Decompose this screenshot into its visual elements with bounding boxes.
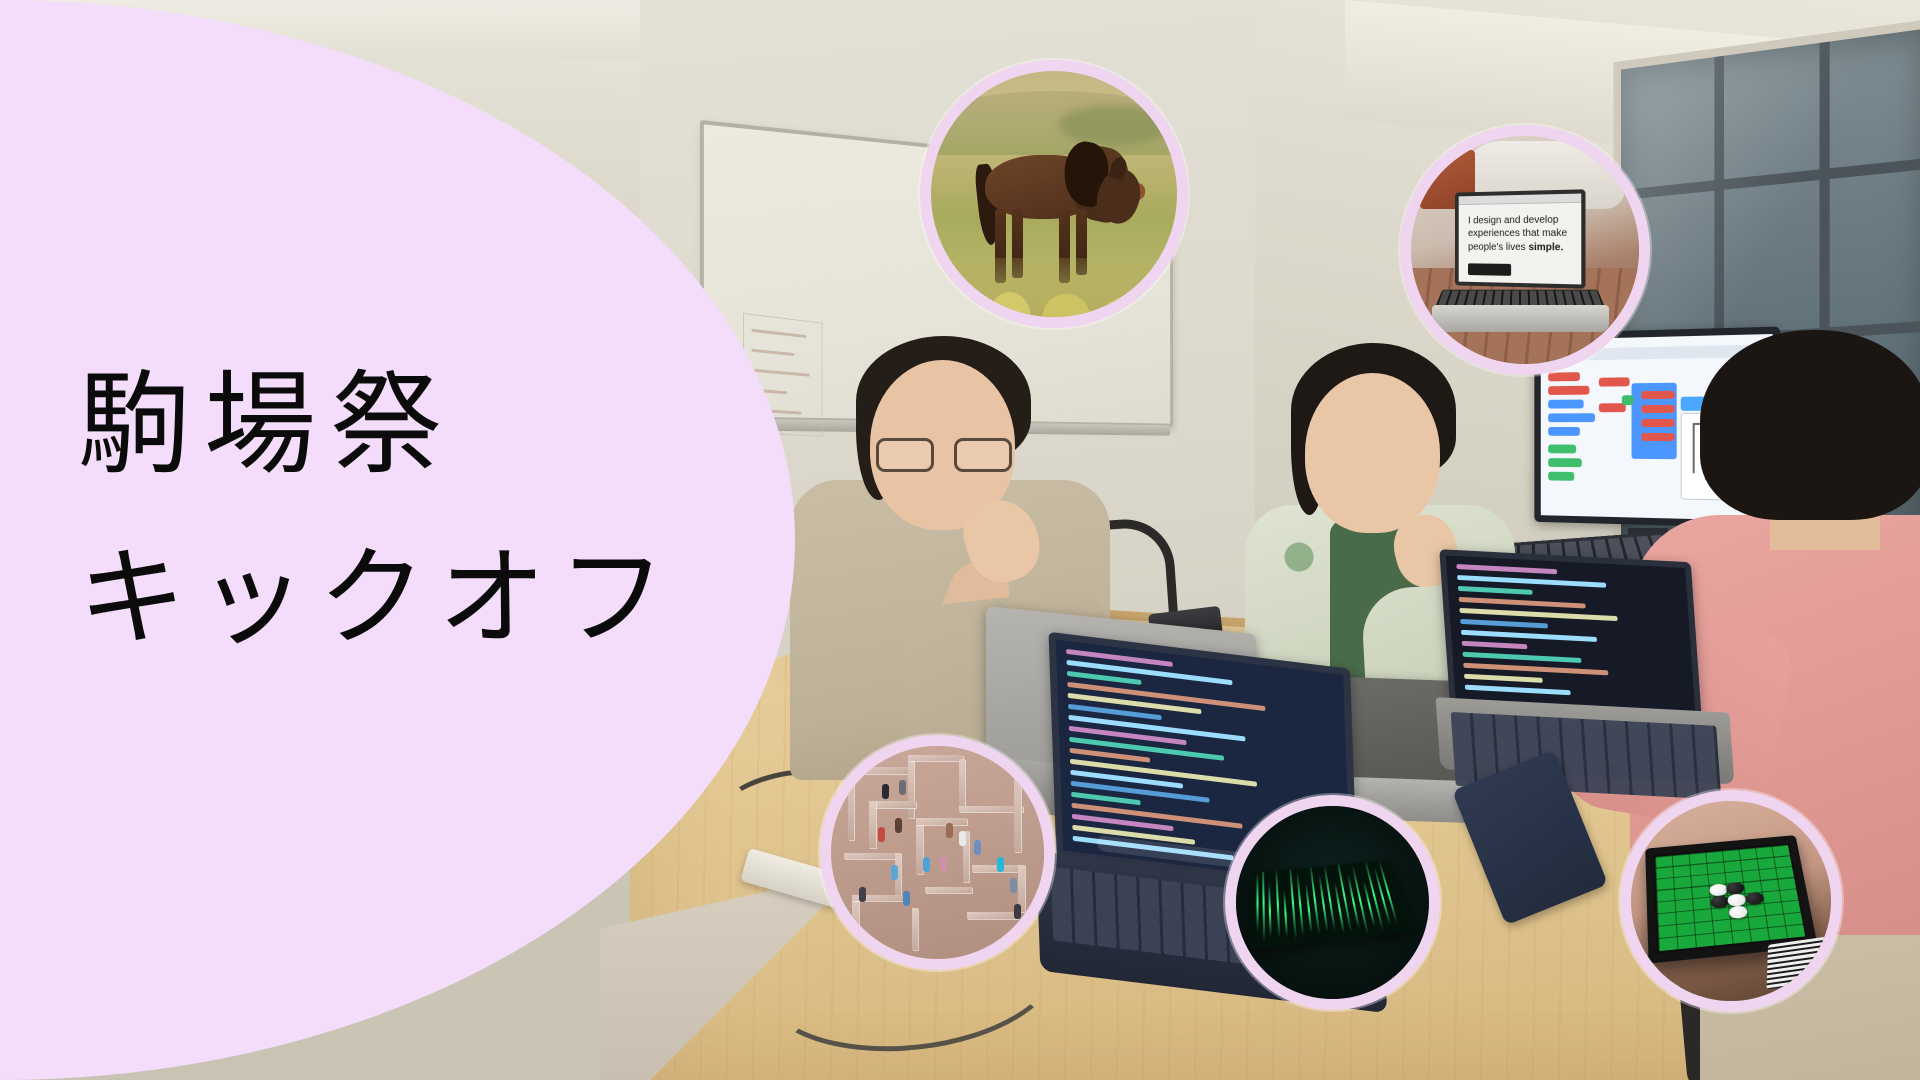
title-panel: 駒場祭 キックオフ	[0, 0, 795, 1080]
portfolio-cta-button[interactable]	[1468, 263, 1511, 275]
portfolio-headline: I design and develop experiences that ma…	[1468, 213, 1574, 254]
matrix-code-bubble	[1225, 795, 1440, 1010]
laptop-screen: I design and develop experiences that ma…	[1455, 189, 1586, 288]
horse-photo-bubble	[920, 60, 1188, 328]
headline-line-3: people's lives	[1468, 241, 1528, 252]
matrix-laptop-screen	[1250, 860, 1412, 949]
title-block: 駒場祭 キックオフ	[78, 368, 718, 654]
headline-line-1: I design and develop	[1468, 215, 1559, 227]
othello-board	[1653, 843, 1808, 954]
maze-photo-bubble	[820, 735, 1055, 970]
poster-canvas: I design and develop experiences that ma…	[0, 0, 1920, 1080]
title-line-2: キックオフ	[78, 544, 718, 654]
laptop-right	[1432, 546, 1727, 795]
glasses	[876, 438, 1014, 472]
headline-bold: simple.	[1528, 241, 1563, 252]
othello-board-bubble	[1620, 790, 1842, 1012]
portfolio-laptop-bubble: I design and develop experiences that ma…	[1400, 125, 1650, 375]
title-line-1: 駒場祭	[78, 368, 718, 482]
code-editor-screen	[1456, 564, 1685, 707]
othello-disc-stacks	[1767, 936, 1828, 989]
headline-line-2: experiences that make	[1468, 228, 1567, 239]
